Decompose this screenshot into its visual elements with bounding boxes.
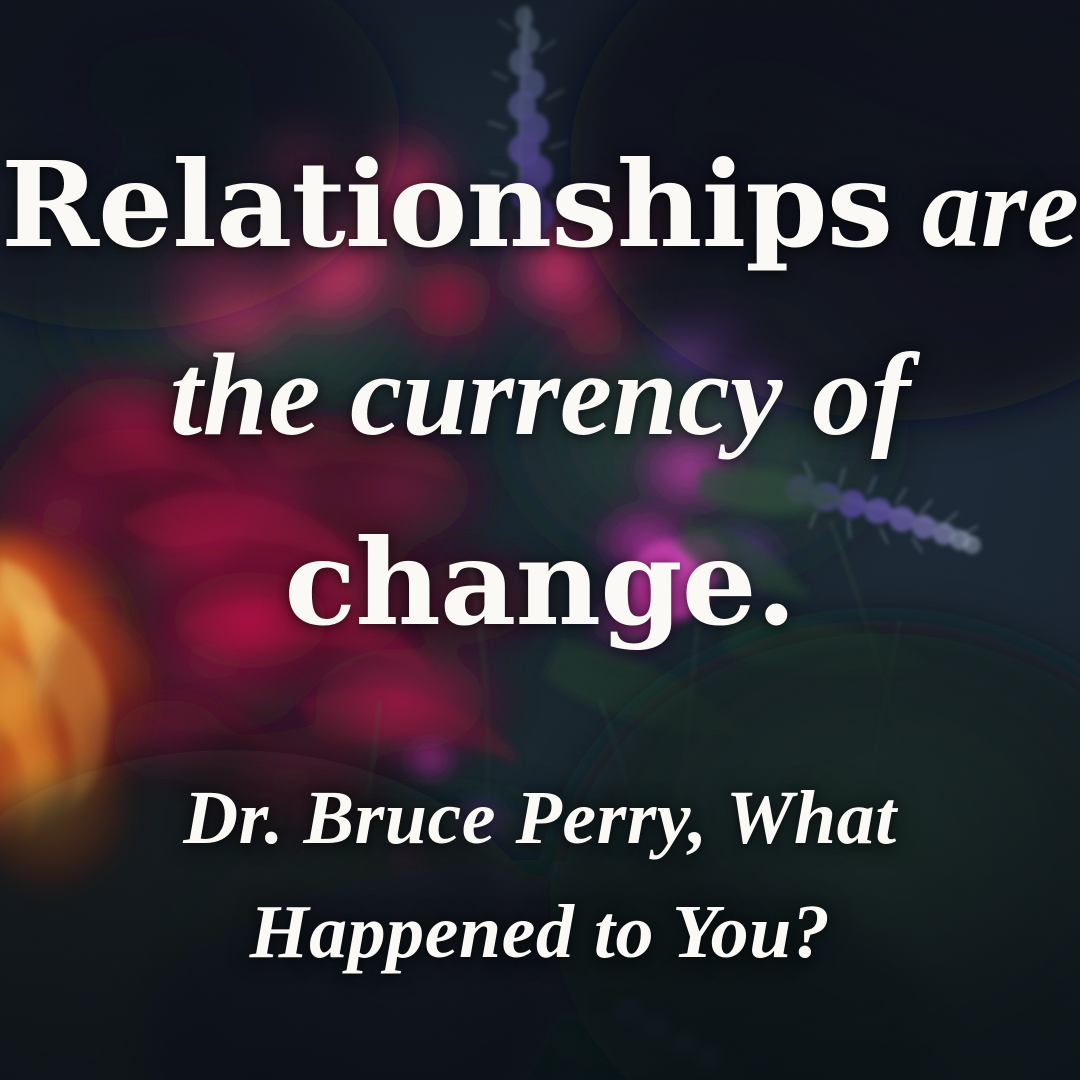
quote-word-relationships: Relationships — [1, 135, 892, 274]
quote-line-1: Relationships are — [0, 146, 1080, 266]
quote-line-3: change. — [0, 524, 1080, 644]
quote-word-are: are — [892, 141, 1079, 272]
quote-word-change: change. — [284, 513, 796, 652]
quote-phrase-the-currency-of: the currency of — [170, 329, 911, 460]
attribution-line-2: Happened to You? — [0, 894, 1080, 970]
attribution-line-1: Dr. Bruce Perry, What — [0, 780, 1080, 856]
quote-line-2: the currency of — [0, 336, 1080, 454]
quote-card: Relationships are the currency of change… — [0, 0, 1080, 1080]
text-layer: Relationships are the currency of change… — [0, 0, 1080, 1080]
